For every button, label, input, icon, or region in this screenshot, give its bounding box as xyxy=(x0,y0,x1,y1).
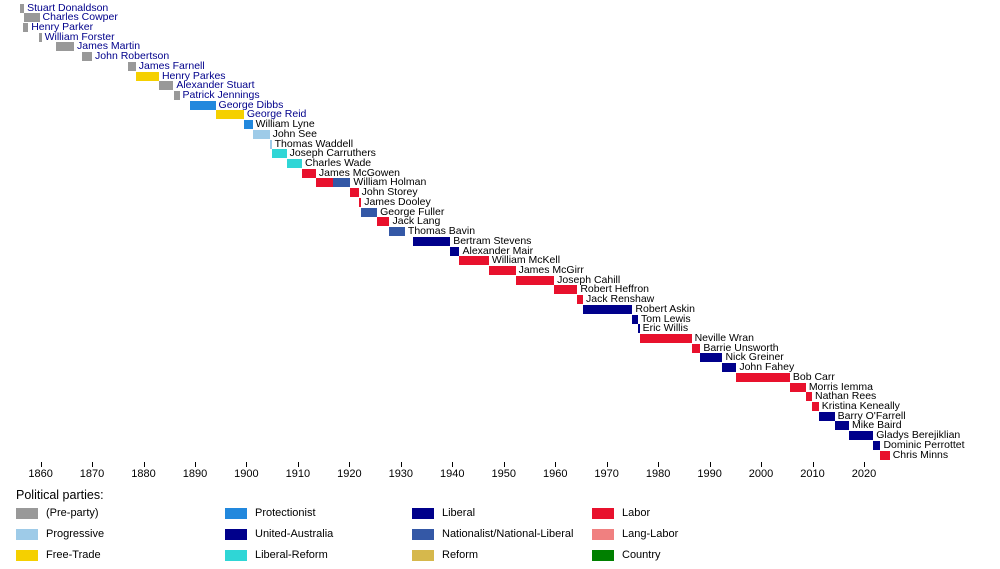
legend-swatch xyxy=(225,529,247,540)
axis-tick-label: 1920 xyxy=(337,468,361,480)
timeline-bar xyxy=(174,91,179,100)
timeline-bar xyxy=(516,276,555,285)
axis-tick xyxy=(555,462,556,467)
timeline-bar xyxy=(270,140,272,149)
timeline-bar xyxy=(554,285,577,294)
timeline-bar xyxy=(82,52,92,61)
timeline-bar xyxy=(700,353,722,362)
axis-tick-label: 2010 xyxy=(800,468,824,480)
axis-tick xyxy=(246,462,247,467)
timeline-bar xyxy=(350,188,358,197)
legend-label: Reform xyxy=(442,548,478,562)
axis-tick xyxy=(813,462,814,467)
timeline-bar xyxy=(302,169,316,178)
axis-tick xyxy=(452,462,453,467)
timeline-bar xyxy=(489,266,516,275)
legend-swatch xyxy=(16,550,38,561)
timeline-bar xyxy=(190,101,216,110)
axis-tick-label: 1970 xyxy=(594,468,618,480)
legend-label: Lang-Labor xyxy=(622,527,678,541)
timeline-bar xyxy=(806,392,812,401)
bar-label: Chris Minns xyxy=(893,450,948,460)
timeline-bar xyxy=(244,120,253,129)
timeline-bar xyxy=(819,412,835,421)
axis-tick xyxy=(298,462,299,467)
axis-tick-label: 2020 xyxy=(852,468,876,480)
legend-swatch xyxy=(225,550,247,561)
timeline-bar xyxy=(812,402,819,411)
axis-tick-label: 1860 xyxy=(28,468,52,480)
timeline-bar xyxy=(450,247,459,256)
axis-tick xyxy=(504,462,505,467)
axis-tick xyxy=(92,462,93,467)
axis-tick xyxy=(710,462,711,467)
axis-tick xyxy=(401,462,402,467)
legend-label: Liberal-Reform xyxy=(255,548,328,562)
legend-label: Liberal xyxy=(442,506,475,520)
prime-ministers-timeline-chart: Stuart DonaldsonCharles CowperHenry Park… xyxy=(0,0,1000,470)
timeline-bar xyxy=(638,324,640,333)
legend-label: Nationalist/National-Liberal xyxy=(442,527,573,541)
timeline-bar xyxy=(873,441,880,450)
legend-label: Country xyxy=(622,548,661,562)
timeline-bar xyxy=(128,62,136,71)
timeline-bar xyxy=(632,315,638,324)
axis-tick-label: 1870 xyxy=(80,468,104,480)
timeline-bar xyxy=(377,217,389,226)
axis-tick-label: 1910 xyxy=(286,468,310,480)
legend-swatch xyxy=(16,529,38,540)
axis-tick-label: 1980 xyxy=(646,468,670,480)
timeline-bar xyxy=(359,198,362,207)
timeline-bar xyxy=(287,159,302,168)
axis-tick-label: 1960 xyxy=(543,468,567,480)
timeline-bar xyxy=(39,33,42,42)
legend-swatch xyxy=(16,508,38,519)
timeline-bar xyxy=(640,334,692,343)
axis-tick-label: 1900 xyxy=(234,468,258,480)
timeline-bar xyxy=(790,383,806,392)
timeline-bar xyxy=(361,208,377,217)
legend-swatch xyxy=(592,550,614,561)
legend-label: (Pre-party) xyxy=(46,506,99,520)
legend-label: Free-Trade xyxy=(46,548,101,562)
axis-tick xyxy=(607,462,608,467)
legend-title: Political parties: xyxy=(16,488,104,502)
legend-label: Labor xyxy=(622,506,650,520)
legend-label: United-Australia xyxy=(255,527,333,541)
timeline-bar xyxy=(23,23,28,32)
x-axis: 1860187018801890190019101920193019401950… xyxy=(0,462,1000,490)
bar-label: John Fahey xyxy=(739,362,794,372)
timeline-bar xyxy=(849,431,873,440)
timeline-bar xyxy=(583,305,632,314)
timeline-bar xyxy=(56,42,74,51)
legend-swatch xyxy=(412,508,434,519)
timeline-bar xyxy=(216,110,244,119)
timeline-bar xyxy=(389,227,404,236)
timeline-bar xyxy=(413,237,450,246)
timeline-bar xyxy=(272,149,287,158)
axis-tick xyxy=(195,462,196,467)
legend-swatch xyxy=(592,529,614,540)
axis-tick-label: 1950 xyxy=(491,468,515,480)
legend-swatch xyxy=(412,529,434,540)
timeline-bar xyxy=(835,421,849,430)
timeline-bar xyxy=(692,344,701,353)
axis-tick xyxy=(658,462,659,467)
axis-tick xyxy=(761,462,762,467)
timeline-bar xyxy=(722,363,736,372)
legend-swatch xyxy=(225,508,247,519)
timeline-bar xyxy=(880,451,889,460)
timeline-bar xyxy=(459,256,488,265)
axis-tick xyxy=(864,462,865,467)
chart-legend: Political parties: (Pre-party)Progressiv… xyxy=(0,488,1000,553)
timeline-bar xyxy=(333,178,350,187)
timeline-bar xyxy=(159,81,173,90)
axis-tick-label: 2000 xyxy=(749,468,773,480)
timeline-bar xyxy=(253,130,270,139)
timeline-bar xyxy=(577,295,583,304)
timeline-bar xyxy=(20,4,24,13)
axis-tick-label: 1890 xyxy=(183,468,207,480)
timeline-bar xyxy=(736,373,790,382)
axis-tick-label: 1880 xyxy=(131,468,155,480)
legend-label: Progressive xyxy=(46,527,104,541)
axis-tick-label: 1990 xyxy=(697,468,721,480)
bar-label: Eric Willis xyxy=(643,323,689,333)
axis-tick xyxy=(144,462,145,467)
axis-tick xyxy=(349,462,350,467)
timeline-bar xyxy=(136,72,159,81)
legend-swatch xyxy=(592,508,614,519)
axis-tick-label: 1940 xyxy=(440,468,464,480)
axis-tick xyxy=(41,462,42,467)
axis-tick-label: 1930 xyxy=(389,468,413,480)
legend-label: Protectionist xyxy=(255,506,316,520)
legend-swatch xyxy=(412,550,434,561)
